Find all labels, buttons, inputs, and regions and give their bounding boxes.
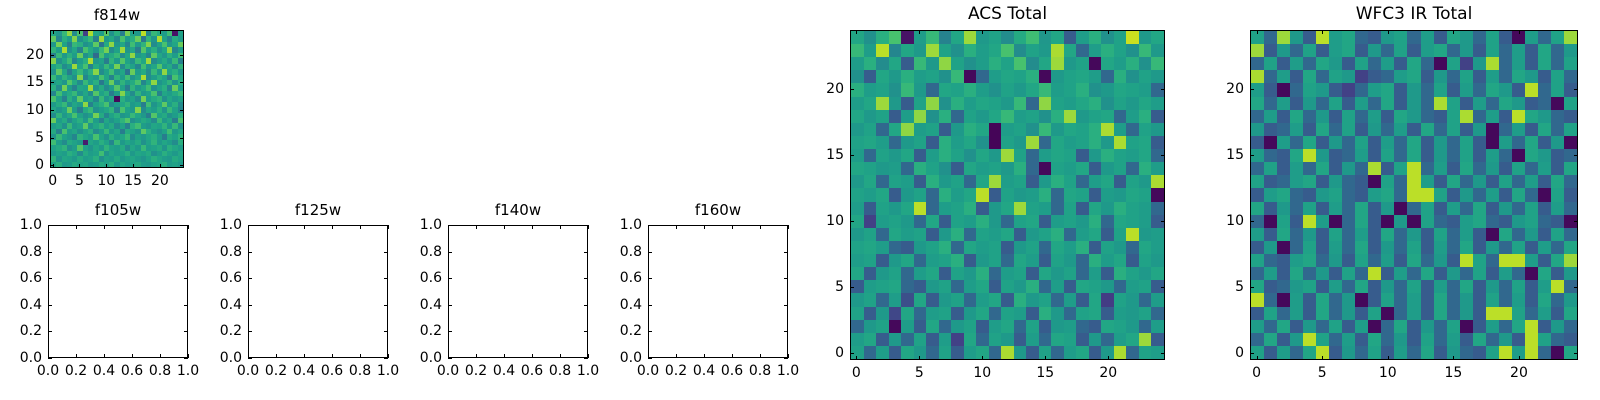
heatmap-cell bbox=[1564, 136, 1577, 149]
heatmap-cell bbox=[1342, 215, 1355, 228]
heatmap-cell bbox=[1434, 346, 1447, 359]
heatmap-cell bbox=[1329, 175, 1342, 188]
x-tick bbox=[1045, 356, 1046, 360]
heatmap-cell bbox=[1026, 333, 1039, 346]
heatmap-cell bbox=[1089, 280, 1102, 293]
y-tick-label: 20 bbox=[826, 82, 844, 96]
heatmap-cell bbox=[1473, 31, 1486, 44]
heatmap-cell bbox=[1512, 333, 1525, 346]
heatmap-cell bbox=[1486, 110, 1499, 123]
x-tick-label: 10 bbox=[97, 174, 115, 188]
heatmap-cell bbox=[1407, 293, 1420, 306]
heatmap-cell bbox=[876, 123, 889, 136]
heatmap-cell bbox=[1342, 57, 1355, 70]
heatmap-cell bbox=[1076, 44, 1089, 57]
x-tick bbox=[1322, 30, 1323, 34]
heatmap-cell bbox=[1051, 149, 1064, 162]
heatmap-cell bbox=[1525, 241, 1538, 254]
heatmap-cell bbox=[1368, 175, 1381, 188]
heatmap-cell bbox=[1114, 123, 1127, 136]
heatmap-cell bbox=[976, 123, 989, 136]
heatmap-cell bbox=[901, 254, 914, 267]
heatmap-cell bbox=[1039, 44, 1052, 57]
heatmap-cell bbox=[939, 31, 952, 44]
heatmap-cell bbox=[1460, 149, 1473, 162]
heatmap-cell bbox=[1264, 83, 1277, 96]
heatmap-cell bbox=[989, 57, 1002, 70]
heatmap-cell bbox=[1316, 202, 1329, 215]
heatmap-cell bbox=[1355, 280, 1368, 293]
x-tick-label: 5 bbox=[1318, 366, 1327, 380]
heatmap-cell bbox=[1126, 307, 1139, 320]
heatmap-cell bbox=[1316, 57, 1329, 70]
heatmap-cell bbox=[1329, 110, 1342, 123]
y-tick bbox=[50, 110, 54, 111]
heatmap-cell bbox=[964, 83, 977, 96]
plot-area-wfc3-ir-total bbox=[1250, 30, 1578, 360]
heatmap-cell bbox=[1303, 241, 1316, 254]
heatmap-cell bbox=[1355, 202, 1368, 215]
heatmap-cell bbox=[1101, 307, 1114, 320]
heatmap-cell bbox=[1538, 254, 1551, 267]
heatmap-cell bbox=[1342, 110, 1355, 123]
heatmap-cell bbox=[1329, 202, 1342, 215]
x-tick-label: 0.4 bbox=[293, 364, 315, 378]
heatmap-cell bbox=[1355, 110, 1368, 123]
heatmap-cell bbox=[901, 320, 914, 333]
heatmap-cell bbox=[1407, 70, 1420, 83]
heatmap-cell bbox=[1076, 83, 1089, 96]
x-tick-label: 15 bbox=[1444, 366, 1462, 380]
heatmap-cell bbox=[889, 31, 902, 44]
heatmap-cell bbox=[1039, 123, 1052, 136]
heatmap-cell bbox=[876, 333, 889, 346]
heatmap-cell bbox=[851, 97, 864, 110]
x-tick bbox=[704, 354, 705, 358]
heatmap-cell bbox=[1277, 215, 1290, 228]
heatmap-cell bbox=[1316, 307, 1329, 320]
heatmap-cell bbox=[851, 267, 864, 280]
heatmap-cell bbox=[976, 202, 989, 215]
heatmap-cell bbox=[1101, 293, 1114, 306]
heatmap-cell bbox=[1316, 97, 1329, 110]
heatmap-cell bbox=[851, 188, 864, 201]
heatmap-cell bbox=[1355, 123, 1368, 136]
heatmap-cell bbox=[1499, 215, 1512, 228]
heatmap-cell bbox=[964, 307, 977, 320]
heatmap-cell bbox=[1039, 280, 1052, 293]
heatmap-cell bbox=[1064, 70, 1077, 83]
heatmap-cell bbox=[914, 70, 927, 83]
y-tick-label: 20 bbox=[1226, 82, 1244, 96]
heatmap-cell bbox=[1551, 267, 1564, 280]
heatmap-cell bbox=[1151, 320, 1164, 333]
heatmap-cell bbox=[1076, 110, 1089, 123]
heatmap-cell bbox=[1486, 188, 1499, 201]
heatmap-cell bbox=[1355, 241, 1368, 254]
heatmap-cell bbox=[1538, 44, 1551, 57]
heatmap-cell bbox=[1473, 293, 1486, 306]
heatmap-cell bbox=[1014, 149, 1027, 162]
x-tick bbox=[304, 225, 305, 229]
heatmap-cell bbox=[864, 31, 877, 44]
heatmap-cell bbox=[976, 70, 989, 83]
x-tick bbox=[304, 354, 305, 358]
heatmap-cell bbox=[1368, 333, 1381, 346]
heatmap-cell bbox=[1126, 70, 1139, 83]
heatmap-cell bbox=[914, 293, 927, 306]
heatmap-cell bbox=[876, 110, 889, 123]
y-tick-label: 0.0 bbox=[20, 351, 42, 365]
heatmap-cell bbox=[1101, 215, 1114, 228]
heatmap-cell bbox=[1151, 293, 1164, 306]
heatmap-cell bbox=[1251, 188, 1264, 201]
heatmap-cell bbox=[1264, 97, 1277, 110]
heatmap-cell bbox=[926, 228, 939, 241]
heatmap-cell bbox=[1342, 254, 1355, 267]
y-tick bbox=[448, 252, 452, 253]
heatmap-cell bbox=[1421, 136, 1434, 149]
heatmap-cell bbox=[914, 110, 927, 123]
heatmap-cell bbox=[1303, 320, 1316, 333]
heatmap-cell bbox=[1499, 307, 1512, 320]
heatmap-cell bbox=[1342, 188, 1355, 201]
heatmap-cell bbox=[1126, 149, 1139, 162]
heatmap-cell bbox=[1473, 188, 1486, 201]
heatmap-cell bbox=[864, 267, 877, 280]
y-tick bbox=[384, 305, 388, 306]
heatmap-cell bbox=[1342, 123, 1355, 136]
x-tick-label: 0.8 bbox=[549, 364, 571, 378]
heatmap-cell bbox=[1447, 57, 1460, 70]
heatmap-cell bbox=[989, 175, 1002, 188]
heatmap-cell bbox=[1101, 110, 1114, 123]
heatmap-cell bbox=[1473, 136, 1486, 149]
plot-area-f160w bbox=[648, 225, 788, 358]
heatmap-cell bbox=[1051, 241, 1064, 254]
heatmap-cell bbox=[1551, 215, 1564, 228]
heatmap-cell bbox=[1551, 280, 1564, 293]
heatmap-cell bbox=[1381, 123, 1394, 136]
heatmap-cell bbox=[939, 188, 952, 201]
x-tick bbox=[332, 225, 333, 229]
y-tick-label: 0.2 bbox=[420, 324, 442, 338]
y-tick-label: 10 bbox=[26, 103, 44, 117]
heatmap-cell bbox=[1342, 241, 1355, 254]
heatmap-cell bbox=[1460, 83, 1473, 96]
heatmap-cell bbox=[926, 136, 939, 149]
heatmap-cell bbox=[876, 346, 889, 359]
heatmap-cell bbox=[1473, 97, 1486, 110]
heatmap-cell bbox=[901, 346, 914, 359]
y-tick bbox=[384, 252, 388, 253]
heatmap-cell bbox=[889, 136, 902, 149]
heatmap-cell bbox=[864, 70, 877, 83]
heatmap-cell bbox=[901, 110, 914, 123]
heatmap-cell bbox=[951, 228, 964, 241]
heatmap-cell bbox=[1473, 175, 1486, 188]
heatmap-cell bbox=[1101, 57, 1114, 70]
heatmap-cell bbox=[1342, 228, 1355, 241]
heatmap-cell bbox=[1329, 123, 1342, 136]
y-tick bbox=[448, 358, 452, 359]
heatmap-cell bbox=[1303, 346, 1316, 359]
y-tick-label: 10 bbox=[1226, 214, 1244, 228]
x-tick-label: 0.6 bbox=[721, 364, 743, 378]
heatmap-cell bbox=[1381, 162, 1394, 175]
heatmap-cell bbox=[951, 215, 964, 228]
heatmap-cell bbox=[889, 346, 902, 359]
heatmap-cell bbox=[1355, 175, 1368, 188]
y-tick bbox=[584, 331, 588, 332]
heatmap-cell bbox=[1039, 228, 1052, 241]
heatmap-cell bbox=[1499, 110, 1512, 123]
y-tick bbox=[1250, 353, 1254, 354]
heatmap-cell bbox=[1329, 162, 1342, 175]
heatmap-cell bbox=[1499, 44, 1512, 57]
y-tick-label: 0.8 bbox=[420, 245, 442, 259]
heatmap-cell bbox=[889, 83, 902, 96]
heatmap-cell bbox=[1447, 162, 1460, 175]
heatmap-cell bbox=[1126, 228, 1139, 241]
heatmap-cell bbox=[989, 228, 1002, 241]
heatmap-cell bbox=[1076, 149, 1089, 162]
heatmap-cell bbox=[1421, 267, 1434, 280]
heatmap-cell bbox=[1525, 123, 1538, 136]
heatmap-cell bbox=[1525, 44, 1538, 57]
heatmap-cell bbox=[939, 307, 952, 320]
heatmap-cell bbox=[1126, 280, 1139, 293]
heatmap-cell bbox=[1407, 254, 1420, 267]
heatmap-cell bbox=[1460, 215, 1473, 228]
heatmap-cell bbox=[1076, 188, 1089, 201]
heatmap-cell bbox=[964, 254, 977, 267]
heatmap-cell bbox=[901, 83, 914, 96]
heatmap-cell bbox=[989, 123, 1002, 136]
x-tick bbox=[704, 225, 705, 229]
heatmap-cell bbox=[1499, 162, 1512, 175]
heatmap-cell bbox=[1460, 110, 1473, 123]
heatmap-cell bbox=[1001, 44, 1014, 57]
heatmap-cell bbox=[1394, 110, 1407, 123]
heatmap-cell bbox=[1394, 97, 1407, 110]
heatmap-cell bbox=[1026, 83, 1039, 96]
heatmap-cell bbox=[1421, 83, 1434, 96]
heatmap-cell bbox=[964, 241, 977, 254]
y-tick-label: 0.2 bbox=[20, 324, 42, 338]
heatmap-cell bbox=[1460, 31, 1473, 44]
heatmap-cell bbox=[1368, 215, 1381, 228]
heatmap-cell bbox=[1368, 188, 1381, 201]
x-tick-label: 0.0 bbox=[437, 364, 459, 378]
heatmap-cell bbox=[1355, 254, 1368, 267]
heatmap-cell bbox=[1551, 333, 1564, 346]
heatmap-cell bbox=[1290, 123, 1303, 136]
heatmap-cell bbox=[1499, 346, 1512, 359]
heatmap-cell bbox=[976, 44, 989, 57]
heatmap-cell bbox=[864, 83, 877, 96]
x-tick bbox=[1322, 356, 1323, 360]
heatmap-cell bbox=[951, 123, 964, 136]
x-tick bbox=[388, 354, 389, 358]
heatmap-cell bbox=[1101, 123, 1114, 136]
heatmap-cell bbox=[1290, 175, 1303, 188]
heatmap-cell bbox=[976, 333, 989, 346]
heatmap-cell bbox=[1264, 136, 1277, 149]
heatmap-cell bbox=[1076, 307, 1089, 320]
heatmap-cell bbox=[1264, 293, 1277, 306]
heatmap-cell bbox=[851, 44, 864, 57]
heatmap-cell bbox=[989, 280, 1002, 293]
heatmap-cell bbox=[1076, 162, 1089, 175]
heatmap-cell bbox=[964, 162, 977, 175]
y-tick bbox=[50, 138, 54, 139]
heatmap-cell bbox=[1114, 83, 1127, 96]
heatmap-cell bbox=[1290, 57, 1303, 70]
y-tick bbox=[384, 278, 388, 279]
heatmap-cell bbox=[876, 44, 889, 57]
heatmap-cell bbox=[1355, 83, 1368, 96]
x-tick-label: 0.2 bbox=[665, 364, 687, 378]
heatmap-cell bbox=[1473, 215, 1486, 228]
heatmap-cell bbox=[1447, 280, 1460, 293]
heatmap-cell bbox=[1101, 44, 1114, 57]
y-tick bbox=[1574, 155, 1578, 156]
heatmap-cell bbox=[1064, 188, 1077, 201]
y-tick bbox=[448, 278, 452, 279]
heatmap-cell bbox=[989, 97, 1002, 110]
y-tick bbox=[180, 165, 184, 166]
heatmap-cell bbox=[1512, 241, 1525, 254]
heatmap-cell bbox=[1126, 123, 1139, 136]
heatmap-cell bbox=[1101, 149, 1114, 162]
heatmap-cell bbox=[1486, 307, 1499, 320]
heatmap-cell bbox=[1264, 254, 1277, 267]
heatmap-cell bbox=[1290, 241, 1303, 254]
heatmap-cell bbox=[1026, 136, 1039, 149]
y-tick-label: 0 bbox=[1235, 346, 1244, 360]
heatmap-cell bbox=[989, 241, 1002, 254]
heatmap-cell bbox=[1499, 320, 1512, 333]
x-tick bbox=[504, 225, 505, 229]
heatmap-cell bbox=[1473, 44, 1486, 57]
heatmap-cell bbox=[1139, 97, 1152, 110]
heatmap-cell bbox=[1564, 293, 1577, 306]
heatmap-cell bbox=[1381, 175, 1394, 188]
heatmap-cell bbox=[1394, 188, 1407, 201]
heatmap-cell bbox=[939, 267, 952, 280]
heatmap-cell bbox=[1368, 123, 1381, 136]
heatmap-cell bbox=[976, 97, 989, 110]
heatmap-cell bbox=[1001, 228, 1014, 241]
heatmap-cell bbox=[1251, 70, 1264, 83]
x-tick bbox=[732, 225, 733, 229]
heatmap-cell bbox=[1014, 136, 1027, 149]
heatmap-cell bbox=[1026, 57, 1039, 70]
x-tick bbox=[919, 30, 920, 34]
heatmap-cell bbox=[1473, 267, 1486, 280]
heatmap-cell bbox=[1512, 162, 1525, 175]
heatmap-cell bbox=[1039, 241, 1052, 254]
heatmap-cell bbox=[1051, 267, 1064, 280]
heatmap-cell bbox=[964, 149, 977, 162]
heatmap-cell bbox=[1001, 280, 1014, 293]
heatmap-cell bbox=[1277, 267, 1290, 280]
heatmap-cell bbox=[1014, 320, 1027, 333]
heatmap-cell bbox=[1064, 175, 1077, 188]
heatmap-cell bbox=[976, 228, 989, 241]
heatmap-cell bbox=[901, 215, 914, 228]
heatmap-cell bbox=[989, 202, 1002, 215]
heatmap-cell bbox=[1316, 162, 1329, 175]
heatmap-cell bbox=[1114, 136, 1127, 149]
heatmap-cell bbox=[1303, 175, 1316, 188]
heatmap-cell bbox=[864, 215, 877, 228]
heatmap-cell bbox=[976, 254, 989, 267]
heatmap-cell bbox=[1499, 31, 1512, 44]
heatmap-cell bbox=[876, 267, 889, 280]
x-tick bbox=[788, 225, 789, 229]
heatmap-cell bbox=[1381, 188, 1394, 201]
heatmap-cell bbox=[1394, 307, 1407, 320]
heatmap-cell bbox=[889, 280, 902, 293]
heatmap-cell bbox=[1499, 333, 1512, 346]
heatmap-cell bbox=[1407, 267, 1420, 280]
heatmap-cell bbox=[1039, 97, 1052, 110]
heatmap-cell bbox=[989, 267, 1002, 280]
heatmap-cell bbox=[1051, 175, 1064, 188]
x-tick bbox=[1257, 30, 1258, 34]
heatmap-cell bbox=[1114, 162, 1127, 175]
heatmap-cell bbox=[964, 320, 977, 333]
y-tick bbox=[648, 358, 652, 359]
heatmap-cell bbox=[864, 136, 877, 149]
heatmap-cell bbox=[1538, 188, 1551, 201]
plot-area-f105w bbox=[48, 225, 188, 358]
y-tick bbox=[180, 55, 184, 56]
heatmap-cell bbox=[901, 241, 914, 254]
heatmap-cell bbox=[1499, 136, 1512, 149]
heatmap-cell bbox=[1001, 83, 1014, 96]
axes-wfc3-ir-total: WFC3 IR Total 0510152005101520 bbox=[1250, 30, 1578, 360]
heatmap-cell bbox=[1076, 293, 1089, 306]
heatmap-cell bbox=[1290, 202, 1303, 215]
y-tick bbox=[784, 331, 788, 332]
heatmap-cell bbox=[1303, 293, 1316, 306]
heatmap-cell bbox=[1089, 97, 1102, 110]
heatmap-cell bbox=[1421, 215, 1434, 228]
axes-title-f160w: f160w bbox=[648, 203, 788, 218]
heatmap-cell bbox=[1126, 31, 1139, 44]
x-tick bbox=[919, 356, 920, 360]
heatmap-cell bbox=[1001, 267, 1014, 280]
heatmap-cell bbox=[951, 31, 964, 44]
heatmap-cell bbox=[989, 333, 1002, 346]
heatmap-cell bbox=[1101, 333, 1114, 346]
heatmap-cell bbox=[939, 83, 952, 96]
heatmap-cell bbox=[1051, 346, 1064, 359]
heatmap-cell bbox=[1076, 31, 1089, 44]
heatmap-cell bbox=[1114, 280, 1127, 293]
axes-title-f140w: f140w bbox=[448, 203, 588, 218]
heatmap-cell bbox=[889, 123, 902, 136]
heatmap-cell bbox=[1512, 83, 1525, 96]
x-tick bbox=[732, 354, 733, 358]
heatmap-cell bbox=[1407, 57, 1420, 70]
heatmap-cell bbox=[1089, 57, 1102, 70]
heatmap-cell bbox=[1076, 123, 1089, 136]
y-tick bbox=[248, 278, 252, 279]
